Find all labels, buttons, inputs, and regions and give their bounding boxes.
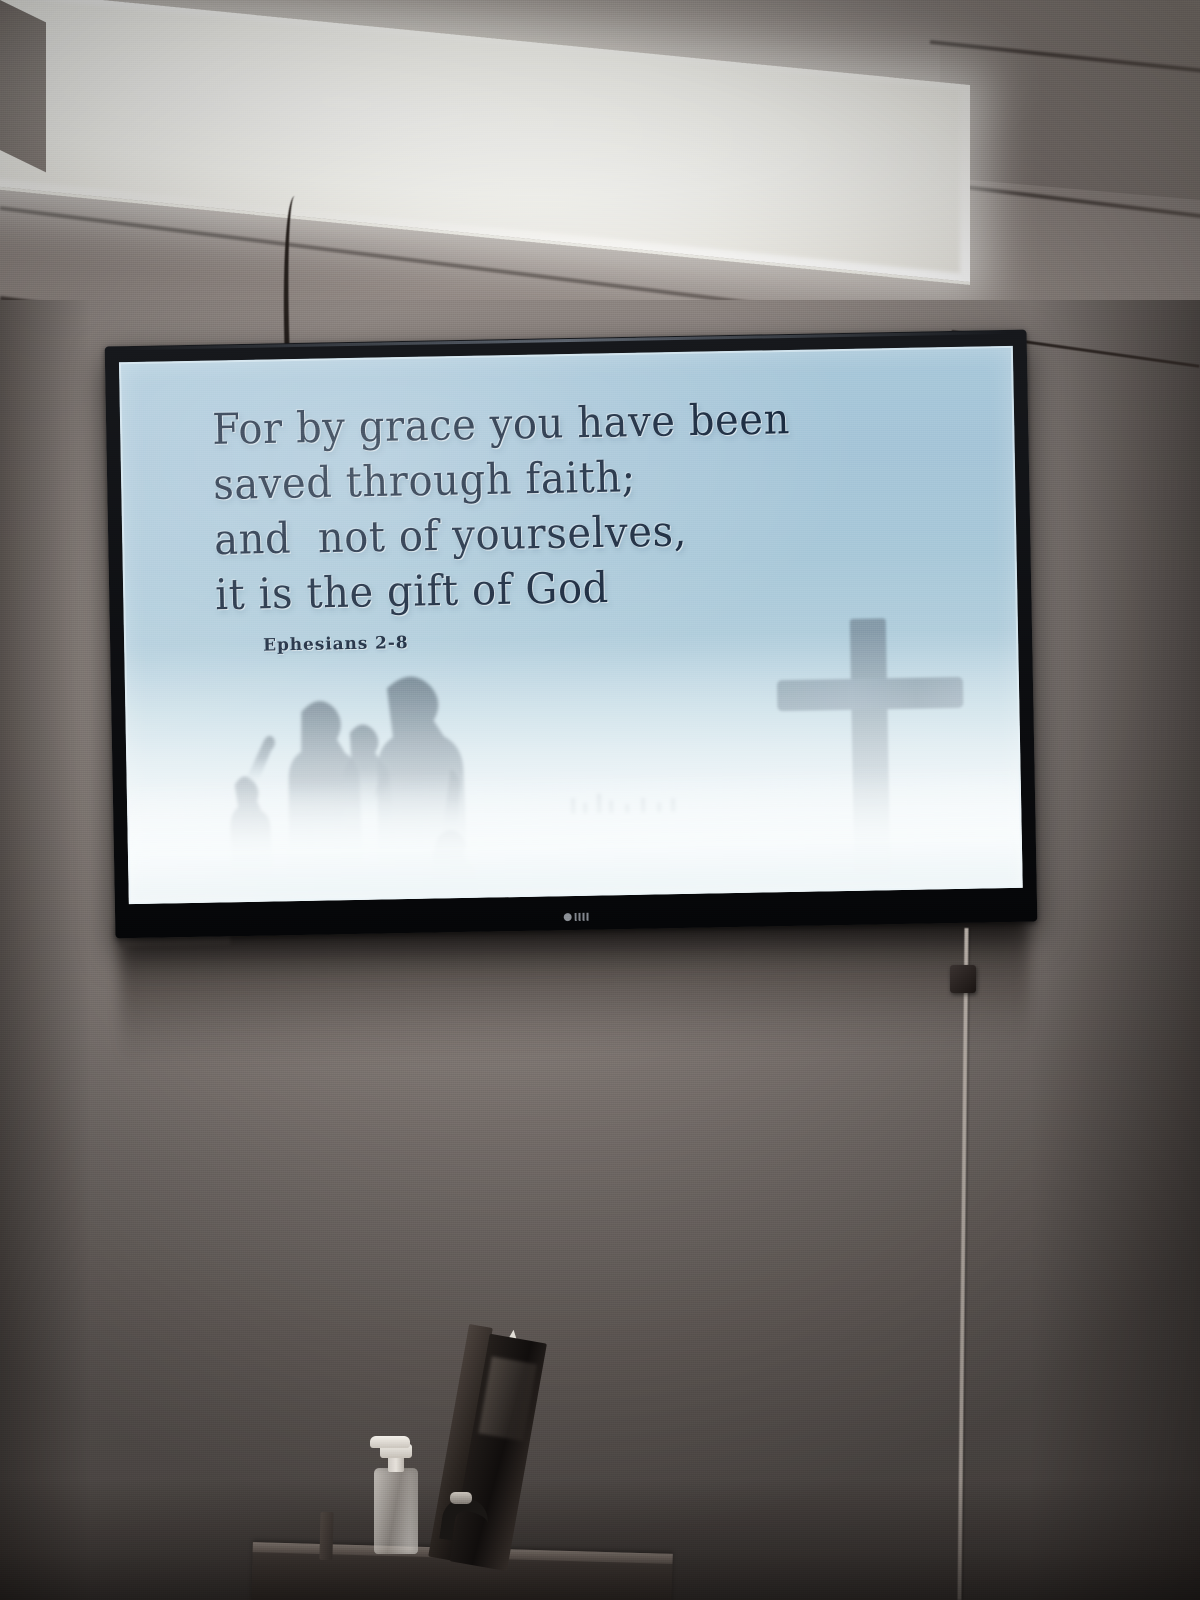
- faucet[interactable]: [442, 1498, 494, 1560]
- hand-sanitizer-pump-bottle[interactable]: [368, 1432, 424, 1554]
- light-fixture-frame: [0, 0, 46, 172]
- tv-screen-slide: For by grace you have been saved through…: [119, 346, 1023, 904]
- wall-shading-right: [1030, 300, 1200, 1600]
- cross-vertical-beam: [850, 618, 891, 904]
- verse-text: For by grace you have been saved through…: [212, 392, 794, 623]
- wall-shading-left: [0, 300, 90, 1600]
- cross-icon: [776, 617, 967, 904]
- cross-horizontal-beam: [777, 677, 964, 711]
- pump-nozzle[interactable]: [370, 1436, 410, 1448]
- tv-power-indicator-icon: [564, 913, 572, 921]
- faucet-knob[interactable]: [450, 1492, 472, 1504]
- family-silhouette-group: [209, 672, 503, 892]
- room-scene: For by grace you have been saved through…: [0, 0, 1200, 1600]
- distant-shrubs: [567, 786, 687, 814]
- verse-reference: Ephesians 2-8: [263, 633, 409, 656]
- ceiling-light-panel: [0, 0, 970, 285]
- ceiling-tile-right: [940, 0, 1200, 200]
- tv-logo-mark-icon: [575, 913, 589, 921]
- bottle-body: [374, 1468, 418, 1554]
- tv-brand-logo: [564, 913, 589, 921]
- wall-mounted-television[interactable]: For by grace you have been saved through…: [105, 330, 1038, 939]
- small-post: [319, 1512, 333, 1560]
- ceiling: [0, 0, 1200, 330]
- cable-wall-clip: [950, 965, 976, 993]
- light-diffuser: [0, 0, 960, 273]
